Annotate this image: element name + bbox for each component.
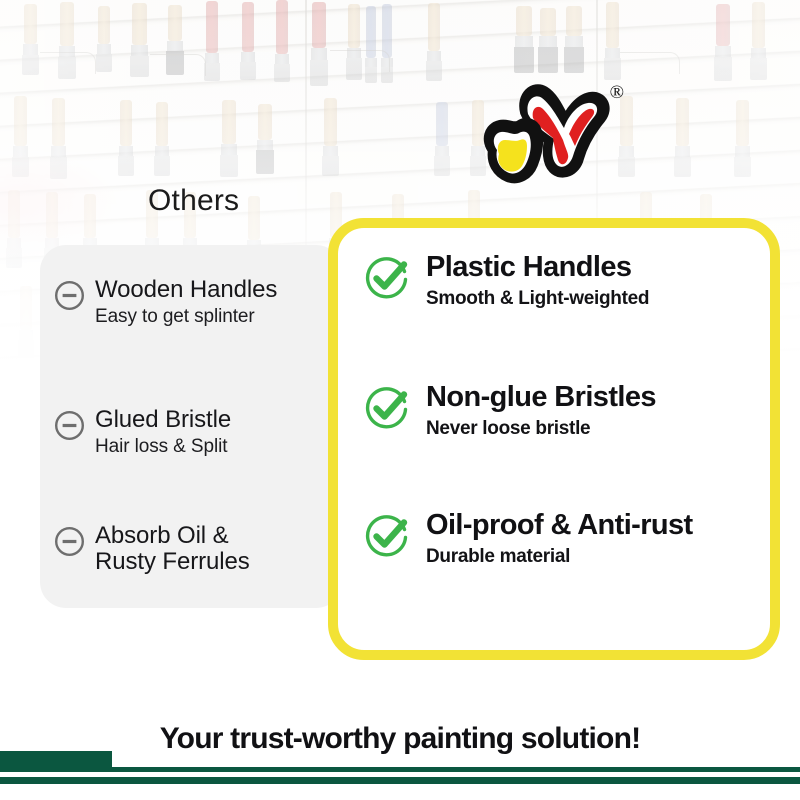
brand-logo: ® (470, 78, 610, 188)
others-item-title: Glued Bristle (95, 407, 231, 433)
footer-tagline: Your trust-worthy painting solution! (0, 722, 800, 756)
advantage-title: Plastic Handles (426, 252, 649, 283)
check-circle-icon (364, 512, 410, 558)
footer-rule-top (0, 767, 800, 772)
others-item-subtitle: Easy to get splinter (95, 306, 277, 329)
advantage-subtitle: Durable material (426, 546, 693, 569)
advantage-title: Oil-proof & Anti-rust (426, 510, 693, 541)
others-item-1: Glued Bristle Hair loss & Split (54, 407, 231, 459)
others-item-title: Wooden Handles (95, 277, 277, 303)
advantage-subtitle: Smooth & Light-weighted (426, 288, 649, 311)
footer-accent-block (0, 751, 112, 767)
others-item-subtitle: Hair loss & Split (95, 436, 231, 459)
footer-rule-bottom (0, 777, 800, 784)
others-item-2: Absorb Oil & Rusty Ferrules (54, 523, 250, 575)
advantage-subtitle: Never loose bristle (426, 418, 656, 441)
check-circle-icon (364, 254, 410, 300)
registered-trademark-symbol: ® (610, 82, 624, 104)
others-heading: Others (148, 184, 239, 218)
check-circle-icon (364, 384, 410, 430)
minus-circle-icon (54, 526, 85, 557)
minus-circle-icon (54, 280, 85, 311)
advantage-item-1: Non-glue Bristles Never loose bristle (364, 382, 656, 441)
others-item-title: Absorb Oil & Rusty Ferrules (95, 523, 250, 575)
advantage-item-2: Oil-proof & Anti-rust Durable material (364, 510, 693, 569)
paint-brush-logo-icon (470, 78, 610, 188)
advantage-title: Non-glue Bristles (426, 382, 656, 413)
minus-circle-icon (54, 410, 85, 441)
others-item-0: Wooden Handles Easy to get splinter (54, 277, 277, 329)
advantage-item-0: Plastic Handles Smooth & Light-weighted (364, 252, 649, 311)
